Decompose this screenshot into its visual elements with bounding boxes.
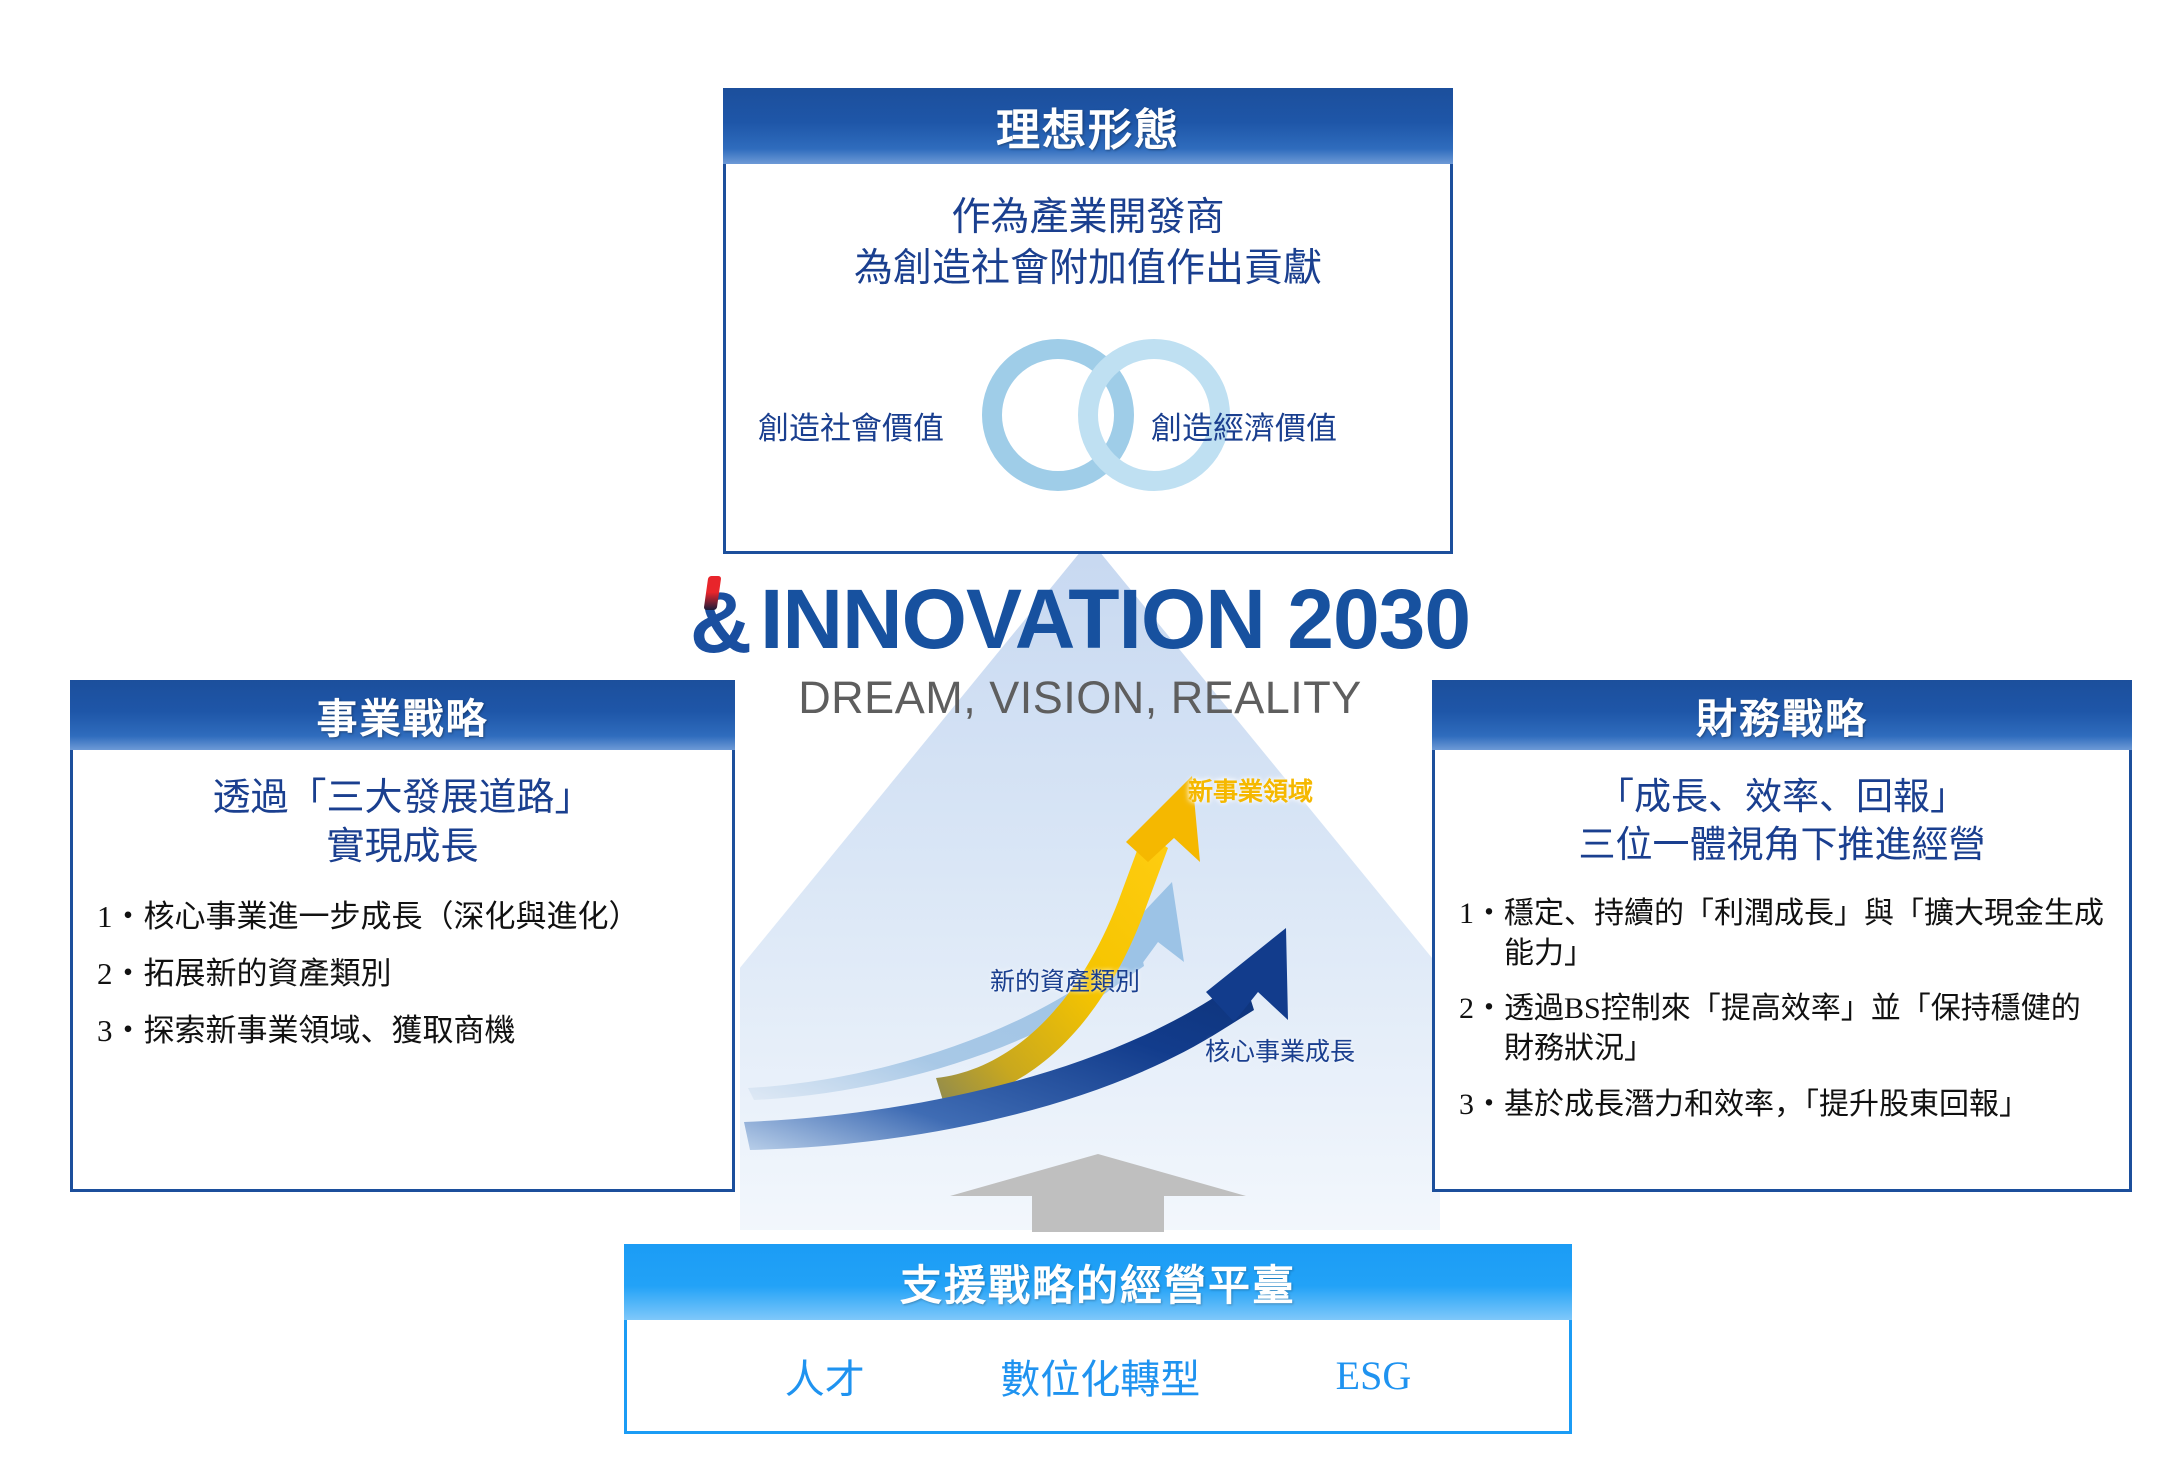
slide-canvas: 理想形態 作為產業開發商 為創造社會附加值作出貢獻 創造社會價值 創造經濟價值 …	[0, 0, 2164, 1480]
ideal-state-header: 理想形態	[723, 88, 1453, 164]
financial-strategy-body: 「成長、效率、回報」 三位一體視角下推進經營 1・ 穩定、持續的「利潤成長」與「…	[1432, 750, 2132, 1192]
business-strategy-header: 事業戰略	[70, 680, 735, 750]
list-item-text: 透過BS控制來「提高效率」並「保持穩健的財務狀況」	[1504, 989, 2105, 1068]
logo-title: INNOVATION 2030	[760, 577, 1470, 661]
value-rings-group: 創造社會價值 創造經濟價值	[726, 321, 1450, 526]
logo-tagline: DREAM, VISION, REALITY	[640, 672, 1520, 724]
ideal-state-line-2: 為創造社會附加值作出貢獻	[726, 243, 1450, 294]
business-strategy-title-line-1: 透過「三大發展道路」	[97, 774, 708, 823]
management-platform-body: 人才 數位化轉型 ESG	[624, 1320, 1572, 1434]
list-item-number: 2・	[97, 954, 144, 995]
business-strategy-body: 透過「三大發展道路」 實現成長 1・ 核心事業進一步成長（深化與進化） 2・ 拓…	[70, 750, 735, 1192]
business-strategy-title-line-2: 實現成長	[97, 823, 708, 872]
ampersand-ribbon-icon: &	[690, 580, 752, 666]
core-business-label: 核心事業成長	[1205, 1032, 1355, 1068]
platform-item-esg: ESG	[1336, 1352, 1412, 1399]
economic-value-label: 創造經濟價值	[1151, 403, 1337, 448]
list-item-number: 3・	[97, 1011, 144, 1052]
list-item: 2・ 拓展新的資產類別	[97, 954, 708, 995]
ideal-state-line-1: 作為產業開發商	[726, 192, 1450, 243]
business-strategy-list: 1・ 核心事業進一步成長（深化與進化） 2・ 拓展新的資產類別 3・ 探索新事業…	[97, 897, 708, 1052]
management-platform-panel: 支援戰略的經營平臺 人才 數位化轉型 ESG	[624, 1244, 1572, 1434]
ideal-state-body: 作為產業開發商 為創造社會附加值作出貢獻 創造社會價值 創造經濟價值	[723, 164, 1453, 554]
list-item-text: 拓展新的資產類別	[144, 954, 709, 995]
ideal-state-panel: 理想形態 作為產業開發商 為創造社會附加值作出貢獻 創造社會價值 創造經濟價值	[723, 88, 1453, 554]
support-up-arrow-icon	[948, 1152, 1248, 1234]
business-strategy-title: 透過「三大發展道路」 實現成長	[97, 774, 708, 873]
platform-item-dx: 數位化轉型	[1000, 1347, 1200, 1405]
list-item-text: 基於成長潛力和效率，「提升股東回報」	[1504, 1085, 2105, 1125]
business-strategy-panel: 事業戰略 透過「三大發展道路」 實現成長 1・ 核心事業進一步成長（深化與進化）…	[70, 680, 735, 1192]
financial-strategy-title: 「成長、效率、回報」 三位一體視角下推進經營	[1459, 774, 2105, 870]
financial-strategy-list: 1・ 穩定、持續的「利潤成長」與「擴大現金生成能力」 2・ 透過BS控制來「提高…	[1459, 894, 2105, 1124]
platform-item-talent: 人才	[785, 1347, 865, 1405]
social-value-label: 創造社會價值	[758, 403, 944, 448]
logo-wordmark-row: & INNOVATION 2030	[640, 576, 1520, 662]
new-business-label: 新事業領域	[1188, 772, 1313, 808]
list-item-text: 探索新事業領域、獲取商機	[144, 1011, 709, 1052]
new-asset-label: 新的資產類別	[990, 962, 1140, 998]
list-item-number: 3・	[1459, 1085, 1504, 1125]
growth-arrows-chart: 新事業領域 新的資產類別 核心事業成長	[740, 770, 1440, 1170]
management-platform-header: 支援戰略的經營平臺	[624, 1244, 1572, 1320]
list-item-text: 穩定、持續的「利潤成長」與「擴大現金生成能力」	[1504, 894, 2105, 973]
list-item-number: 1・	[97, 897, 144, 938]
list-item: 1・ 穩定、持續的「利潤成長」與「擴大現金生成能力」	[1459, 894, 2105, 973]
list-item: 1・ 核心事業進一步成長（深化與進化）	[97, 897, 708, 938]
innovation-2030-logo: & INNOVATION 2030 DREAM, VISION, REALITY	[640, 576, 1520, 724]
ideal-state-statement: 作為產業開發商 為創造社會附加值作出貢獻	[726, 164, 1450, 295]
financial-strategy-panel: 財務戰略 「成長、效率、回報」 三位一體視角下推進經營 1・ 穩定、持續的「利潤…	[1432, 680, 2132, 1192]
list-item: 3・ 探索新事業領域、獲取商機	[97, 1011, 708, 1052]
financial-strategy-title-line-2: 三位一體視角下推進經營	[1459, 822, 2105, 870]
list-item: 2・ 透過BS控制來「提高效率」並「保持穩健的財務狀況」	[1459, 989, 2105, 1068]
list-item-number: 1・	[1459, 894, 1504, 973]
list-item: 3・ 基於成長潛力和效率，「提升股東回報」	[1459, 1085, 2105, 1125]
list-item-number: 2・	[1459, 989, 1504, 1068]
list-item-text: 核心事業進一步成長（深化與進化）	[144, 897, 709, 938]
financial-strategy-title-line-1: 「成長、效率、回報」	[1459, 774, 2105, 822]
financial-strategy-header: 財務戰略	[1432, 680, 2132, 750]
